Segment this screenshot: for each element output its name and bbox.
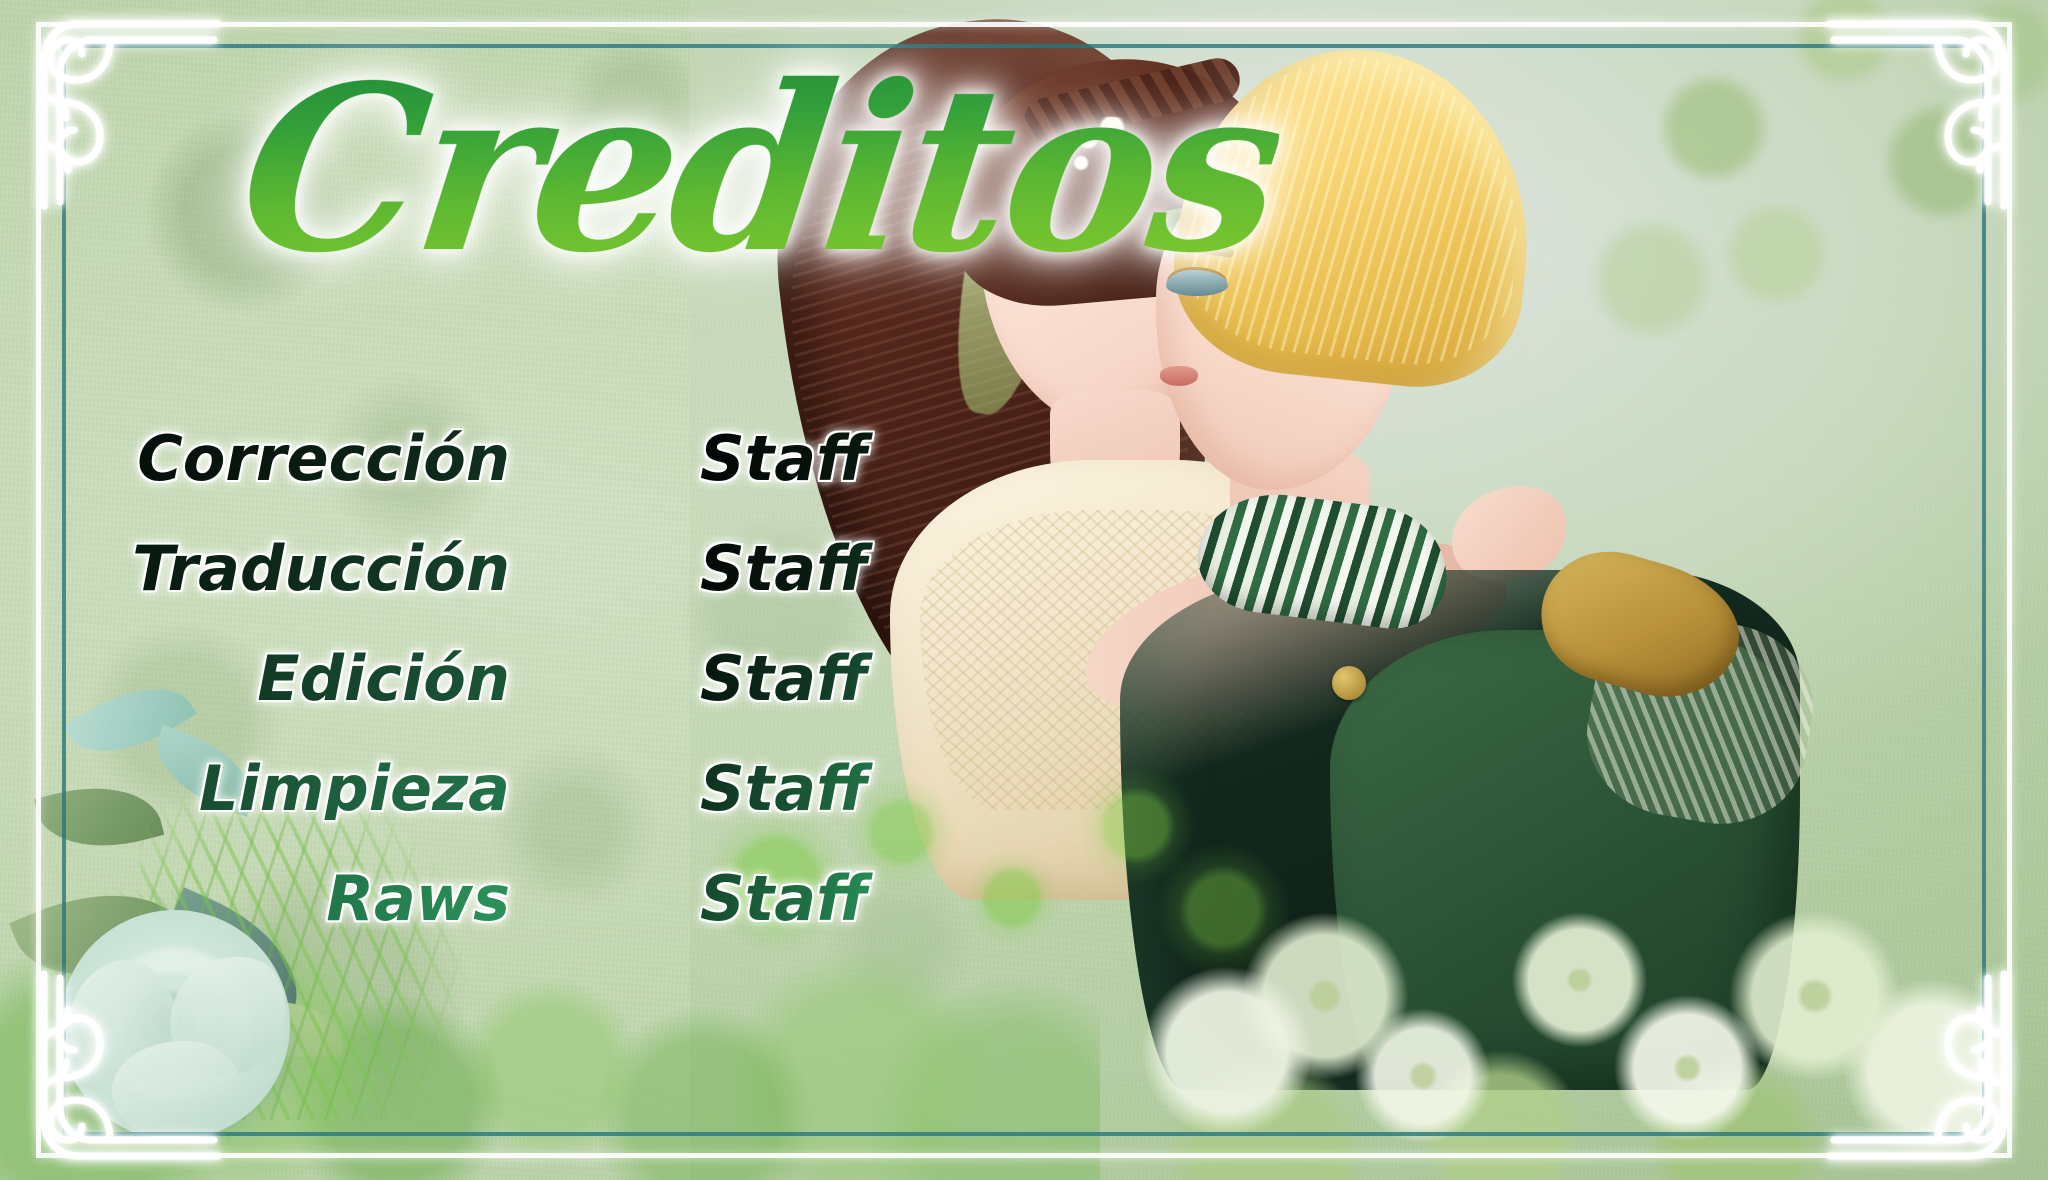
table-row: Corrección Staff	[0, 404, 900, 514]
credit-role-label: Traducción	[0, 538, 510, 600]
credit-role-label: Raws	[0, 868, 510, 930]
credit-person-value: Staff	[700, 868, 900, 930]
credits-list: Corrección Staff Traducción Staff Edició…	[0, 404, 900, 954]
credit-role-label: Limpieza	[0, 758, 510, 820]
scanlation-group-signature: STARLIGHT TRANSLATION	[78, 1038, 721, 1086]
table-row: Raws Staff	[0, 844, 900, 954]
male-lips	[1160, 366, 1198, 386]
credits-page: Creditos Corrección Staff Traducción Sta…	[0, 0, 2048, 1180]
credit-person-value: Staff	[700, 428, 900, 490]
male-uniform-button	[1332, 666, 1366, 700]
signature-text: STARLIGHT TRANSLATION	[104, 1032, 696, 1092]
credit-person-value: Staff	[700, 538, 900, 600]
credit-role-label: Edición	[0, 648, 510, 710]
table-row: Edición Staff	[0, 624, 900, 734]
credit-person-value: Staff	[700, 648, 900, 710]
credit-person-value: Staff	[700, 758, 900, 820]
table-row: Limpieza Staff	[0, 734, 900, 844]
page-title: Creditos	[231, 55, 1289, 283]
credits-content: Creditos Corrección Staff Traducción Sta…	[0, 0, 900, 1180]
credit-role-label: Corrección	[0, 428, 510, 490]
table-row: Traducción Staff	[0, 514, 900, 624]
